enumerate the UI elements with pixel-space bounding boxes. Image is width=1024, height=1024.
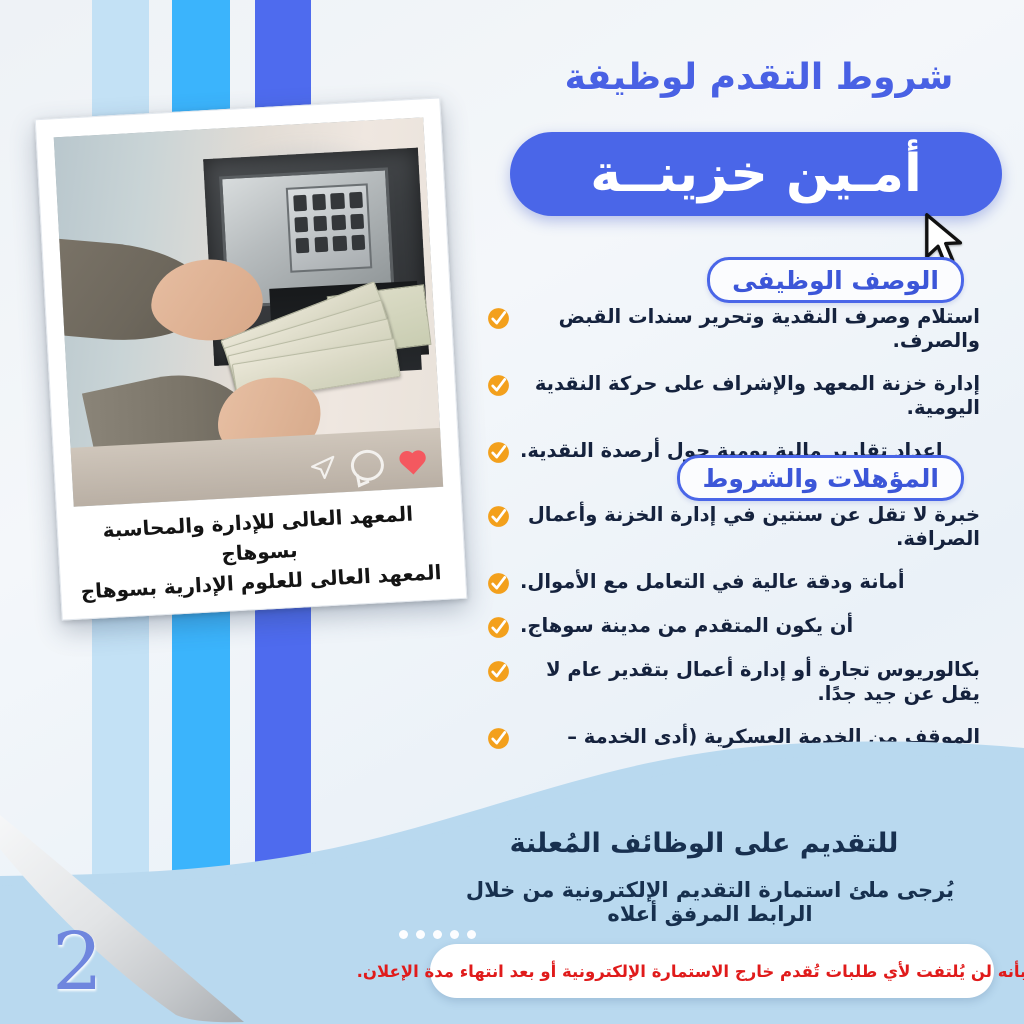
section-label: المؤهلات والشروط	[702, 464, 939, 493]
comment-icon[interactable]	[350, 449, 385, 482]
check-circle-icon	[486, 571, 511, 596]
list-item: بكالوريوس تجارة أو إدارة أعمال بتقدير عا…	[486, 658, 996, 707]
check-circle-icon	[486, 306, 511, 331]
list-item: إدارة خزنة المعهد والإشراف على حركة النق…	[486, 372, 996, 421]
dot	[467, 930, 476, 939]
poster-canvas: المعهد العالى للإدارة والمحاسبة بسوهاج ا…	[0, 0, 1024, 1024]
footer-title: للتقديم على الوظائف المُعلنة	[444, 828, 964, 859]
check-circle-icon	[486, 504, 511, 529]
photo-caption: المعهد العالى للإدارة والمحاسبة بسوهاج ا…	[67, 497, 451, 607]
dot	[450, 930, 459, 939]
list-item: أن يكون المتقدم من مدينة سوهاج.	[486, 614, 996, 640]
page-number: 2	[52, 922, 103, 1002]
photo-card: المعهد العالى للإدارة والمحاسبة بسوهاج ا…	[35, 97, 468, 620]
heart-icon[interactable]	[397, 448, 428, 478]
notice-text: علماً بأنه لن يُلتفت لأي طلبات تُقدم خار…	[357, 962, 1024, 981]
section-label: الوصف الوظيفى	[732, 266, 939, 295]
page-curl-decoration	[0, 809, 310, 1024]
bullet-text: بكالوريوس تجارة أو إدارة أعمال بتقدير عا…	[520, 658, 980, 707]
check-circle-icon	[486, 659, 511, 684]
dot	[433, 930, 442, 939]
job-title-text: أمـين خزينــة	[590, 148, 922, 200]
list-item: استلام وصرف النقدية وتحرير سندات القبض و…	[486, 305, 996, 354]
bullet-text: أن يكون المتقدم من مدينة سوهاج.	[520, 614, 853, 638]
bullet-text: إدارة خزنة المعهد والإشراف على حركة النق…	[520, 372, 980, 421]
list-item: خبرة لا تقل عن سنتين في إدارة الخزنة وأع…	[486, 503, 996, 552]
page-headline: شروط التقدم لوظيفة	[524, 58, 994, 98]
bullet-text: خبرة لا تقل عن سنتين في إدارة الخزنة وأع…	[520, 503, 980, 552]
safe-deposit-photo	[54, 117, 443, 506]
notice-banner: علماً بأنه لن يُلتفت لأي طلبات تُقدم خار…	[430, 944, 994, 998]
share-icon[interactable]	[308, 454, 337, 481]
section-pill-qualifications: المؤهلات والشروط	[677, 455, 964, 501]
section-pill-job-description: الوصف الوظيفى	[707, 257, 964, 303]
bullet-text: استلام وصرف النقدية وتحرير سندات القبض و…	[520, 305, 980, 354]
check-circle-icon	[486, 615, 511, 640]
check-circle-icon	[486, 373, 511, 398]
job-title-badge: أمـين خزينــة	[510, 132, 1002, 216]
check-circle-icon	[486, 440, 511, 465]
dot	[399, 930, 408, 939]
dot	[416, 930, 425, 939]
bullet-text: أمانة ودقة عالية في التعامل مع الأموال.	[520, 570, 905, 594]
decorative-dots	[399, 930, 476, 939]
footer-subtitle: يُرجى ملئ استمارة التقديم الإلكترونية من…	[430, 878, 990, 926]
list-item: أمانة ودقة عالية في التعامل مع الأموال.	[486, 570, 996, 596]
photo-action-icons	[308, 447, 429, 484]
